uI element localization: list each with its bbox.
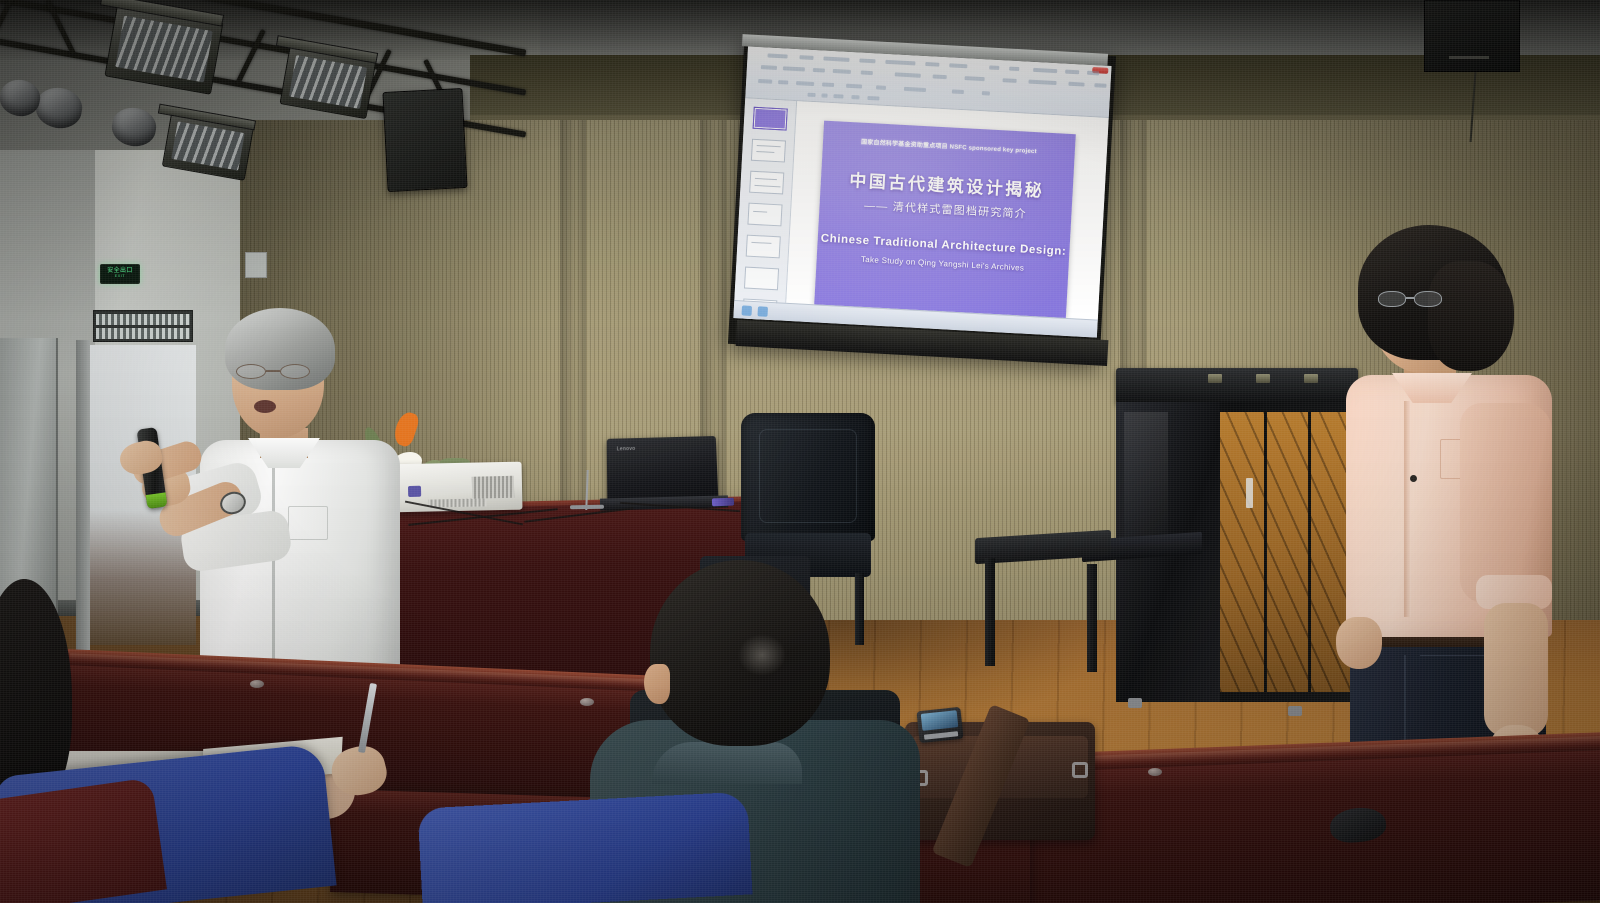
title-slide[interactable]: 国家自然科学基金资助重点项目 NSFC sponsored key projec…: [814, 121, 1076, 318]
audience-chair-frame[interactable]: [0, 777, 167, 903]
attendee-hair-back: [1428, 261, 1514, 371]
audience-chair[interactable]: [418, 791, 753, 903]
attendee-shirt-placket: [1404, 401, 1411, 617]
projected-desktop: 国家自然科学基金资助重点项目 NSFC sponsored key projec…: [733, 46, 1111, 337]
slide-thumbnail[interactable]: [747, 203, 782, 227]
piano-gloss-highlight: [1124, 412, 1168, 552]
slide-thumbnail[interactable]: [746, 235, 781, 259]
desk-fastener: [1148, 768, 1162, 776]
jeans-pocket: [1420, 655, 1484, 689]
laptop-brand-label: Lenovo: [617, 446, 636, 452]
start-icon[interactable]: [741, 305, 752, 316]
microphone-stand-base: [570, 505, 604, 510]
pen[interactable]: [358, 683, 377, 753]
attendee-eyeglasses: [1378, 291, 1440, 307]
piano-hinge: [1256, 374, 1270, 383]
slide-canvas[interactable]: 国家自然科学基金资助重点项目 NSFC sponsored key projec…: [786, 101, 1108, 320]
projector-vents: [472, 476, 514, 499]
attendee-hair-highlight: [738, 634, 786, 676]
presenter-eyeglasses: [236, 364, 310, 379]
bench-leg: [1087, 564, 1097, 672]
usb-stick[interactable]: [712, 498, 734, 507]
shirt-button: [1410, 475, 1417, 482]
lecture-hall-photo: 安全出口 EXIT: [0, 0, 1600, 903]
piano-panel-divider: [1264, 412, 1267, 692]
attendee-right-forearm: [1484, 603, 1548, 737]
slide-thumbnail[interactable]: [749, 171, 784, 195]
piano-tag: [1246, 478, 1253, 508]
piano-caster: [1128, 698, 1142, 708]
ceiling-speaker: [382, 88, 467, 192]
attendee-ear: [644, 664, 670, 704]
slide-thumbnail[interactable]: [753, 107, 788, 131]
attendee-right-arm: [1460, 403, 1552, 603]
bag-hardware-ring: [1072, 762, 1088, 778]
desk-fastener: [580, 698, 594, 706]
projection-screen: 国家自然科学基金资助重点项目 NSFC sponsored key projec…: [728, 36, 1116, 364]
wall-speaker: [1424, 0, 1520, 72]
exit-sign-label-en: EXIT: [115, 274, 125, 279]
presenter-mouth: [254, 400, 276, 413]
attendee-polo-collar: [652, 742, 802, 784]
slide-thumbnail[interactable]: [751, 139, 786, 163]
attendee-left-hand: [1336, 617, 1382, 669]
bench-seat: [975, 530, 1111, 564]
chair-backrest: [741, 413, 875, 541]
wall-plate: [245, 252, 267, 278]
slide-thumbnail[interactable]: [744, 267, 779, 291]
piano-hinge: [1208, 374, 1222, 383]
exit-sign: 安全出口 EXIT: [100, 264, 140, 284]
slide-grant-line: 国家自然科学基金资助重点项目 NSFC sponsored key projec…: [823, 135, 1075, 158]
browser-icon[interactable]: [757, 306, 768, 317]
speaker-brand-plate: [1449, 56, 1489, 59]
laptop[interactable]: Lenovo: [607, 436, 719, 501]
presenter-shirt-pocket: [288, 506, 328, 540]
